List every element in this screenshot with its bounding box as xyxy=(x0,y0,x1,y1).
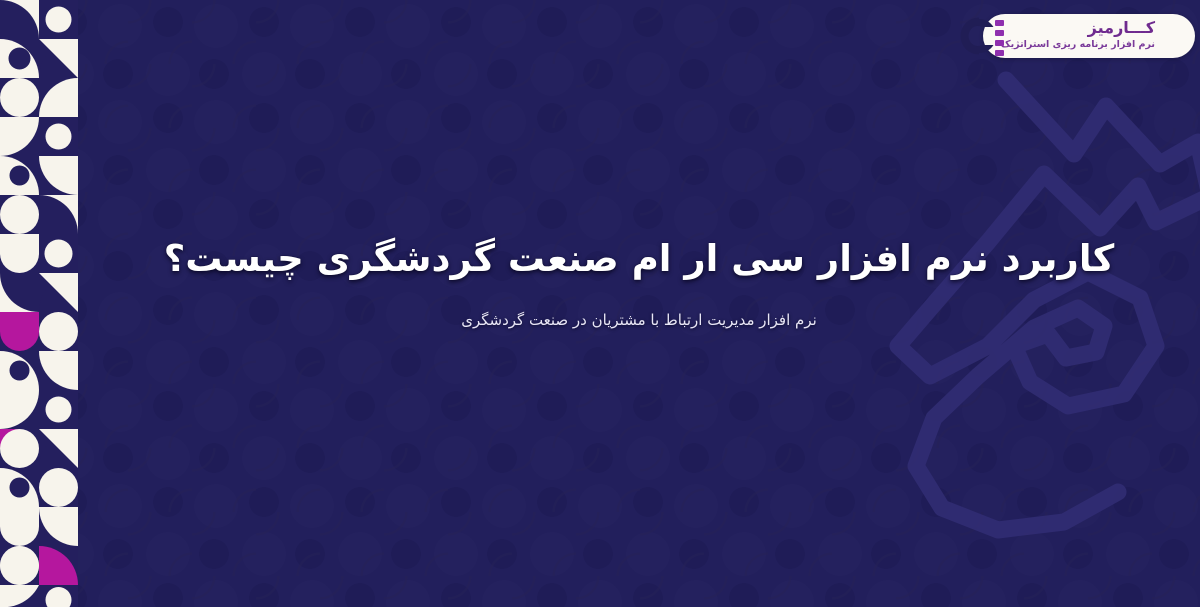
brand-logo[interactable]: کـــارمیز نرم افزار برنامه ریزی استراتژی… xyxy=(983,12,1195,60)
banner-text-block: کاربرد نرم افزار سی ار ام صنعت گردشگری چ… xyxy=(78,232,1200,332)
c-letter-mark-icon xyxy=(949,11,1005,61)
page-subtitle: نرم افزار مدیریت ارتباط با مشتریان در صن… xyxy=(78,308,1200,332)
geometric-circle-pattern-band-icon xyxy=(0,0,78,607)
brand-logo-pill[interactable]: کـــارمیز نرم افزار برنامه ریزی استراتژی… xyxy=(983,14,1195,58)
banner-canvas: کاربرد نرم افزار سی ار ام صنعت گردشگری چ… xyxy=(0,0,1200,607)
brand-name: کـــارمیز xyxy=(1088,20,1155,37)
page-title: کاربرد نرم افزار سی ار ام صنعت گردشگری چ… xyxy=(78,232,1200,286)
brand-tagline: نرم افزار برنامه ریزی استراتژیک xyxy=(1001,39,1155,51)
